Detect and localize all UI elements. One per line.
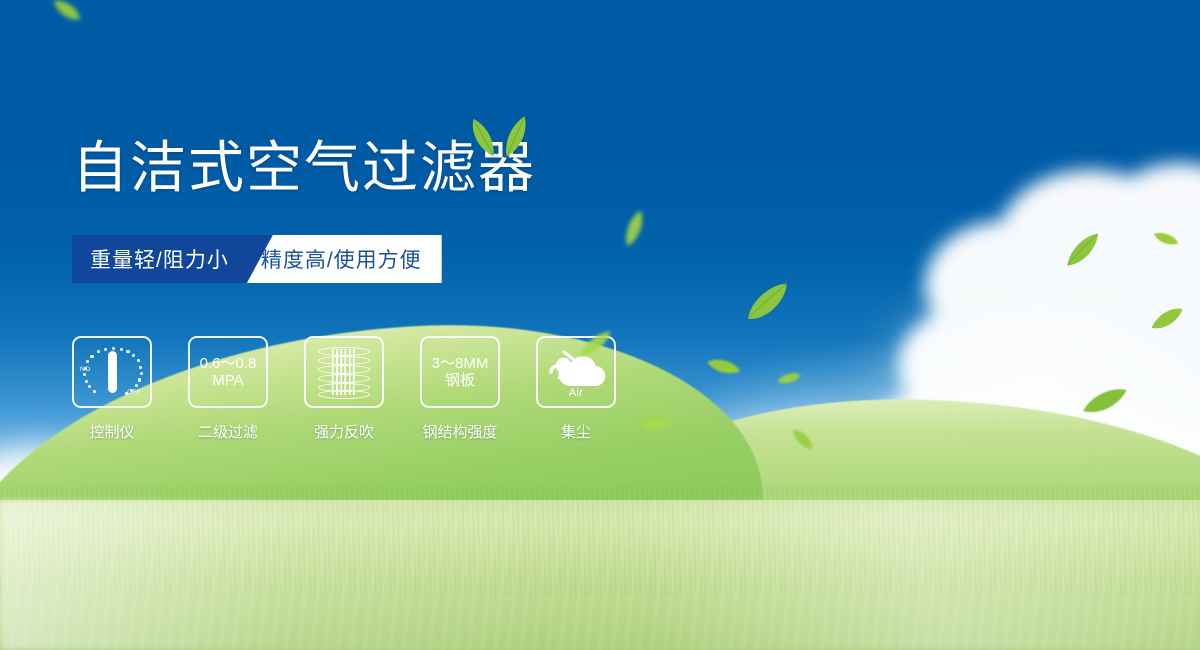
feature-label: 集尘 <box>561 421 591 442</box>
steel-plate-text: 钢板 <box>445 372 475 389</box>
subtitle-bar: 重量轻/阻力小 精度高/使用方便 <box>72 235 442 283</box>
feature-box: NO OFF <box>72 336 152 408</box>
feature-box <box>304 336 384 408</box>
filter-stack-icon <box>318 346 370 398</box>
dial-no-label: NO <box>80 366 90 373</box>
page-title: 自洁式空气过滤器 <box>72 140 536 196</box>
feature-label: 钢结构强度 <box>422 421 497 442</box>
dial-off-label: OFF <box>127 389 141 396</box>
dial-needle <box>108 351 117 393</box>
field-sheen <box>0 500 1200 650</box>
feature-label: 二级过滤 <box>198 421 258 442</box>
feature-item-control[interactable]: NO OFF 控制仪 <box>72 336 152 442</box>
steel-thickness-text: 3～8MM <box>432 355 489 372</box>
subtitle-right-panel: 精度高/使用方便 <box>247 235 442 283</box>
product-banner: 自洁式空气过滤器 重量轻/阻力小 精度高/使用方便 <box>0 0 1200 650</box>
feature-box: 3～8MM 钢板 <box>420 336 500 408</box>
feature-item-steel[interactable]: 3～8MM 钢板 钢结构强度 <box>420 336 500 442</box>
feature-label: 强力反吹 <box>314 421 374 442</box>
dial-gauge-icon: NO OFF <box>81 344 143 400</box>
feature-item-pressure[interactable]: 0.6～0.8 MPA 二级过滤 <box>188 336 268 442</box>
feature-box: 0.6～0.8 MPA <box>188 336 268 408</box>
air-label: Air <box>545 387 607 399</box>
pressure-unit-text: MPA <box>212 372 243 389</box>
feature-item-blowback[interactable]: 强力反吹 <box>304 336 384 442</box>
pressure-range-text: 0.6～0.8 <box>200 355 257 372</box>
grass-field <box>0 460 1200 650</box>
feature-label: 控制仪 <box>89 421 134 442</box>
subtitle-left-panel: 重量轻/阻力小 <box>72 235 273 283</box>
feature-list: NO OFF 控制仪 0.6～0.8 MPA 二级过滤 <box>72 336 616 442</box>
